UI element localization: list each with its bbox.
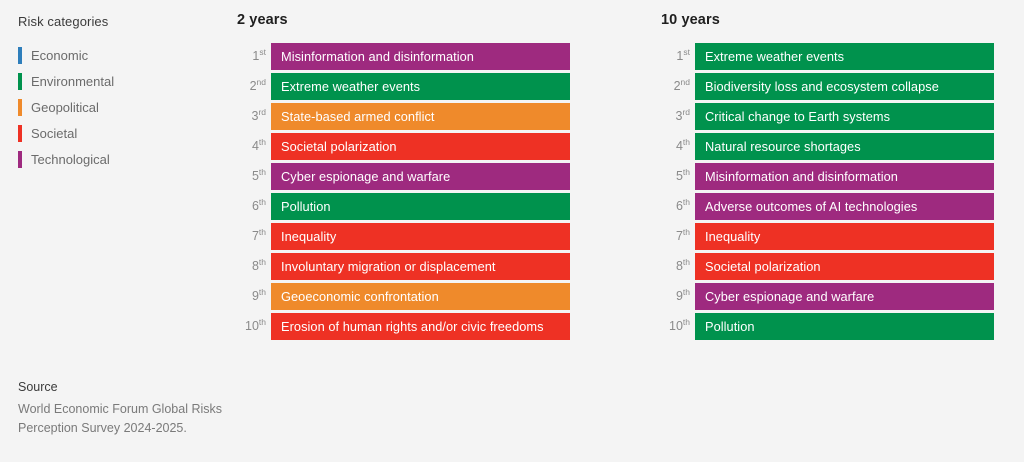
rank-number-value: 5 xyxy=(252,169,259,183)
risk-rank-row: 10thErosion of human rights and/or civic… xyxy=(237,313,570,340)
risk-rank-row: 6thPollution xyxy=(237,193,570,220)
risk-label: Critical change to Earth systems xyxy=(705,109,890,124)
risk-label: Cyber espionage and warfare xyxy=(281,169,450,184)
legend-item-environmental: Environmental xyxy=(18,68,218,94)
risk-bar: Extreme weather events xyxy=(271,73,570,100)
rank-ordinal-suffix: th xyxy=(683,227,690,237)
legend-item-technological: Technological xyxy=(18,146,218,172)
rank-number: 2nd xyxy=(661,73,695,100)
risk-rank-row: 7thInequality xyxy=(237,223,570,250)
rank-number: 5th xyxy=(237,163,271,190)
risk-rank-row: 2ndExtreme weather events xyxy=(237,73,570,100)
rank-number-value: 7 xyxy=(676,229,683,243)
risk-label: Cyber espionage and warfare xyxy=(705,289,874,304)
risk-categories-legend: Risk categories EconomicEnvironmentalGeo… xyxy=(18,14,218,172)
risk-rank-row: 3rdCritical change to Earth systems xyxy=(661,103,994,130)
rank-ordinal-suffix: rd xyxy=(258,107,266,117)
rank-number-value: 9 xyxy=(676,289,683,303)
ranking-column-2-years: 2 years 1stMisinformation and disinforma… xyxy=(237,12,570,343)
legend-swatch-environmental-icon xyxy=(18,73,22,90)
legend-swatch-technological-icon xyxy=(18,151,22,168)
risk-bar: State-based armed conflict xyxy=(271,103,570,130)
risk-label: Adverse outcomes of AI technologies xyxy=(705,199,917,214)
risk-rank-row: 8thSocietal polarization xyxy=(661,253,994,280)
rank-number: 1st xyxy=(237,43,271,70)
rank-number: 4th xyxy=(237,133,271,160)
risk-bar: Biodiversity loss and ecosystem collapse xyxy=(695,73,994,100)
rank-number-value: 6 xyxy=(252,199,259,213)
legend-swatch-societal-icon xyxy=(18,125,22,142)
risk-bar: Misinformation and disinformation xyxy=(695,163,994,190)
legend-item-label: Economic xyxy=(31,49,88,62)
risk-label: Pollution xyxy=(281,199,331,214)
source-text: World Economic Forum Global Risks Percep… xyxy=(18,400,318,438)
rank-number-value: 4 xyxy=(676,139,683,153)
rank-number-value: 5 xyxy=(676,169,683,183)
rank-ordinal-suffix: nd xyxy=(257,77,266,87)
risk-label: State-based armed conflict xyxy=(281,109,435,124)
ranking-list-2-years: 1stMisinformation and disinformation2ndE… xyxy=(237,43,570,340)
risk-rank-row: 1stMisinformation and disinformation xyxy=(237,43,570,70)
risk-label: Societal polarization xyxy=(281,139,397,154)
rank-number-value: 4 xyxy=(252,139,259,153)
risk-rank-row: 9thGeoeconomic confrontation xyxy=(237,283,570,310)
risk-rank-row: 7thInequality xyxy=(661,223,994,250)
rank-ordinal-suffix: th xyxy=(683,257,690,267)
rank-number: 3rd xyxy=(661,103,695,130)
risk-bar: Societal polarization xyxy=(271,133,570,160)
rank-number: 5th xyxy=(661,163,695,190)
risk-bar: Critical change to Earth systems xyxy=(695,103,994,130)
risk-bar: Inequality xyxy=(695,223,994,250)
source-block: Source World Economic Forum Global Risks… xyxy=(18,380,318,438)
risk-bar: Societal polarization xyxy=(695,253,994,280)
rank-number-value: 2 xyxy=(674,79,681,93)
legend-item-societal: Societal xyxy=(18,120,218,146)
column-title-10-years: 10 years xyxy=(661,12,994,30)
legend-swatch-economic-icon xyxy=(18,47,22,64)
rank-number: 8th xyxy=(237,253,271,280)
risk-rank-row: 6thAdverse outcomes of AI technologies xyxy=(661,193,994,220)
legend-item-geopolitical: Geopolitical xyxy=(18,94,218,120)
risk-bar: Extreme weather events xyxy=(695,43,994,70)
risk-label: Extreme weather events xyxy=(705,49,844,64)
risk-rank-row: 1stExtreme weather events xyxy=(661,43,994,70)
rank-number: 10th xyxy=(661,313,695,340)
rank-number: 7th xyxy=(237,223,271,250)
rank-number: 3rd xyxy=(237,103,271,130)
rank-number: 2nd xyxy=(237,73,271,100)
risk-label: Pollution xyxy=(705,319,755,334)
risk-rank-row: 3rdState-based armed conflict xyxy=(237,103,570,130)
rank-number: 8th xyxy=(661,253,695,280)
ranking-list-10-years: 1stExtreme weather events2ndBiodiversity… xyxy=(661,43,994,340)
legend-item-label: Geopolitical xyxy=(31,101,99,114)
rank-ordinal-suffix: th xyxy=(259,317,266,327)
legend-item-economic: Economic xyxy=(18,42,218,68)
risk-rank-row: 10thPollution xyxy=(661,313,994,340)
rank-number-value: 2 xyxy=(250,79,257,93)
rank-ordinal-suffix: th xyxy=(683,287,690,297)
risk-rank-row: 4thSocietal polarization xyxy=(237,133,570,160)
risk-rank-row: 5thCyber espionage and warfare xyxy=(237,163,570,190)
risk-label: Inequality xyxy=(281,229,336,244)
rank-ordinal-suffix: nd xyxy=(681,77,690,87)
risk-label: Extreme weather events xyxy=(281,79,420,94)
rank-number-value: 8 xyxy=(252,259,259,273)
rank-ordinal-suffix: th xyxy=(259,257,266,267)
legend-title: Risk categories xyxy=(18,14,218,29)
risk-bar: Natural resource shortages xyxy=(695,133,994,160)
risk-bar: Pollution xyxy=(695,313,994,340)
rank-number-value: 10 xyxy=(669,319,683,333)
risk-label: Involuntary migration or displacement xyxy=(281,259,496,274)
risk-label: Inequality xyxy=(705,229,760,244)
rank-number-value: 7 xyxy=(252,229,259,243)
rank-ordinal-suffix: th xyxy=(259,287,266,297)
risk-label: Erosion of human rights and/or civic fre… xyxy=(281,319,544,334)
legend-item-label: Societal xyxy=(31,127,77,140)
legend-swatch-geopolitical-icon xyxy=(18,99,22,116)
rank-ordinal-suffix: th xyxy=(259,167,266,177)
risk-bar: Involuntary migration or displacement xyxy=(271,253,570,280)
rank-ordinal-suffix: th xyxy=(683,317,690,327)
risk-bar: Misinformation and disinformation xyxy=(271,43,570,70)
risk-label: Societal polarization xyxy=(705,259,821,274)
risk-rank-row: 4thNatural resource shortages xyxy=(661,133,994,160)
rank-number: 9th xyxy=(237,283,271,310)
risk-bar: Cyber espionage and warfare xyxy=(695,283,994,310)
rank-ordinal-suffix: rd xyxy=(682,107,690,117)
risk-bar: Adverse outcomes of AI technologies xyxy=(695,193,994,220)
rank-number: 9th xyxy=(661,283,695,310)
rank-ordinal-suffix: st xyxy=(683,47,690,57)
rank-number-value: 6 xyxy=(676,199,683,213)
risk-bar: Erosion of human rights and/or civic fre… xyxy=(271,313,570,340)
rank-ordinal-suffix: th xyxy=(259,227,266,237)
rank-number-value: 10 xyxy=(245,319,259,333)
risk-bar: Geoeconomic confrontation xyxy=(271,283,570,310)
risk-bar: Inequality xyxy=(271,223,570,250)
ranking-column-10-years: 10 years 1stExtreme weather events2ndBio… xyxy=(661,12,994,343)
rank-number-value: 8 xyxy=(676,259,683,273)
risk-rank-row: 5thMisinformation and disinformation xyxy=(661,163,994,190)
rank-number: 10th xyxy=(237,313,271,340)
risk-label: Geoeconomic confrontation xyxy=(281,289,439,304)
legend-item-list: EconomicEnvironmentalGeopoliticalSocieta… xyxy=(18,42,218,172)
rank-number: 1st xyxy=(661,43,695,70)
legend-item-label: Environmental xyxy=(31,75,114,88)
rank-ordinal-suffix: st xyxy=(259,47,266,57)
risk-bar: Cyber espionage and warfare xyxy=(271,163,570,190)
rank-number: 7th xyxy=(661,223,695,250)
rank-ordinal-suffix: th xyxy=(259,197,266,207)
rank-ordinal-suffix: th xyxy=(683,197,690,207)
legend-item-label: Technological xyxy=(31,153,110,166)
rank-number: 6th xyxy=(661,193,695,220)
rank-ordinal-suffix: th xyxy=(683,137,690,147)
risk-bar: Pollution xyxy=(271,193,570,220)
rank-number: 4th xyxy=(661,133,695,160)
risk-label: Biodiversity loss and ecosystem collapse xyxy=(705,79,939,94)
risk-rank-row: 8thInvoluntary migration or displacement xyxy=(237,253,570,280)
column-title-2-years: 2 years xyxy=(237,12,570,30)
risk-rank-row: 9thCyber espionage and warfare xyxy=(661,283,994,310)
risk-label: Misinformation and disinformation xyxy=(705,169,898,184)
rank-ordinal-suffix: th xyxy=(259,137,266,147)
rank-number-value: 9 xyxy=(252,289,259,303)
risk-label: Natural resource shortages xyxy=(705,139,861,154)
rank-ordinal-suffix: th xyxy=(683,167,690,177)
risk-label: Misinformation and disinformation xyxy=(281,49,474,64)
source-heading: Source xyxy=(18,380,318,394)
rank-number: 6th xyxy=(237,193,271,220)
risk-rank-row: 2ndBiodiversity loss and ecosystem colla… xyxy=(661,73,994,100)
